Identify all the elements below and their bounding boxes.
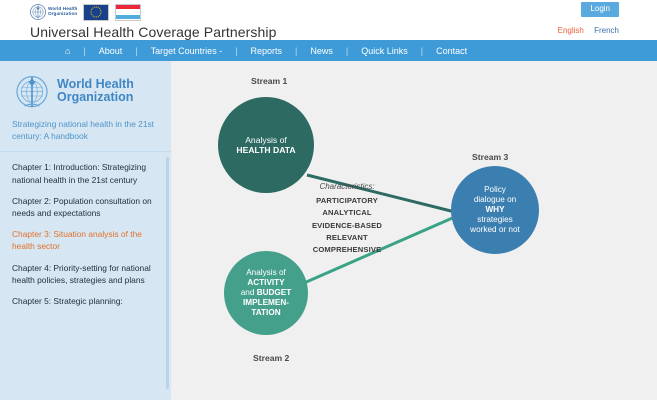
lux-band-blue: [116, 15, 140, 20]
nav-item-quick-links[interactable]: Quick Links: [348, 46, 421, 56]
characteristic-item: RELEVANT: [287, 232, 407, 244]
diagram-canvas: Stream 1 Analysis ofHEALTH DATA Stream 2…: [171, 61, 657, 400]
sidebar-item-chapter-1[interactable]: Chapter 1: Introduction: Strategizing na…: [12, 161, 157, 185]
login-button[interactable]: Login: [581, 2, 619, 17]
characteristic-item: PARTICIPATORY: [287, 195, 407, 207]
characteristic-item: COMPREHENSIVE: [287, 244, 407, 256]
chapter-list: Chapter 1: Introduction: Strategizing na…: [0, 152, 171, 307]
nav-item-target-countries[interactable]: Target Countries -: [138, 46, 236, 56]
stream-2-label: Stream 2: [253, 353, 289, 363]
sidebar-who-logo: World Health Organization: [12, 71, 161, 111]
sidebar-wordmark-line1: World Health: [57, 78, 134, 91]
node-stream-2: Analysis ofACTIVITYand BUDGETIMPLEMEN-TA…: [224, 251, 308, 335]
home-icon: ⌂: [65, 46, 70, 56]
nav-item-news[interactable]: News: [297, 46, 346, 56]
page-root: World Health Organization Universal Heal…: [0, 0, 657, 400]
characteristics-block: Characteristics: PARTICIPATORY ANALYTICA…: [287, 182, 407, 256]
sidebar-item-chapter-5[interactable]: Chapter 5: Strategic planning:: [12, 295, 157, 307]
nav-item-about[interactable]: About: [86, 46, 136, 56]
european-union-flag-icon: [83, 4, 109, 21]
nav-item-reports[interactable]: Reports: [238, 46, 296, 56]
node-stream-1-text: Analysis ofHEALTH DATA: [230, 135, 301, 156]
who-emblem-icon: [30, 4, 46, 20]
sidebar-item-chapter-4[interactable]: Chapter 4: Priority-setting for national…: [12, 262, 157, 286]
characteristic-item: ANALYTICAL: [287, 207, 407, 219]
three-streams-diagram: Stream 1 Analysis ofHEALTH DATA Stream 2…: [171, 61, 657, 400]
logo-row: World Health Organization: [30, 2, 277, 22]
language-english[interactable]: English: [558, 26, 584, 35]
who-logo-small: World Health Organization: [30, 4, 77, 20]
who-wordmark: World Health Organization: [48, 7, 77, 16]
sidebar-scrollbar[interactable]: [166, 157, 169, 389]
node-stream-1: Analysis ofHEALTH DATA: [218, 97, 314, 193]
characteristic-item: EVIDENCE-BASED: [287, 220, 407, 232]
language-french[interactable]: French: [594, 26, 619, 35]
content-area: World Health Organization Strategizing n…: [0, 61, 657, 400]
stream-3-label: Stream 3: [472, 152, 508, 162]
who-wordmark-line2: Organization: [48, 12, 77, 17]
brand-block: World Health Organization Universal Heal…: [30, 2, 277, 40]
language-switcher: English French: [550, 26, 619, 35]
characteristics-title: Characteristics:: [287, 182, 407, 191]
luxembourg-flag-icon: [115, 4, 141, 21]
sidebar-header: World Health Organization Strategizing n…: [0, 61, 171, 152]
stream-1-label: Stream 1: [251, 76, 287, 86]
main-navigation: ⌂ | About | Target Countries - | Reports…: [0, 40, 657, 61]
eu-stars: [91, 7, 102, 18]
node-stream-2-text: Analysis ofACTIVITYand BUDGETIMPLEMEN-TA…: [235, 268, 298, 318]
site-title: Universal Health Coverage Partnership: [30, 24, 277, 40]
sidebar: World Health Organization Strategizing n…: [0, 61, 171, 400]
nav-item-contact[interactable]: Contact: [423, 46, 480, 56]
sidebar-wordmark: World Health Organization: [57, 78, 134, 105]
site-header: World Health Organization Universal Heal…: [0, 0, 657, 40]
sidebar-item-chapter-2[interactable]: Chapter 2: Population consultation on ne…: [12, 195, 157, 219]
who-emblem-icon: [12, 71, 52, 111]
node-stream-3: Policydialogue onWHYstrategiesworked or …: [451, 166, 539, 254]
nav-item-home[interactable]: ⌂: [52, 46, 83, 56]
sidebar-wordmark-line2: Organization: [57, 91, 134, 104]
handbook-title: Strategizing national health in the 21st…: [12, 118, 161, 142]
node-stream-3-text: Policydialogue onWHYstrategiesworked or …: [464, 185, 526, 235]
sidebar-item-chapter-3[interactable]: Chapter 3: Situation analysis of the hea…: [12, 228, 157, 252]
